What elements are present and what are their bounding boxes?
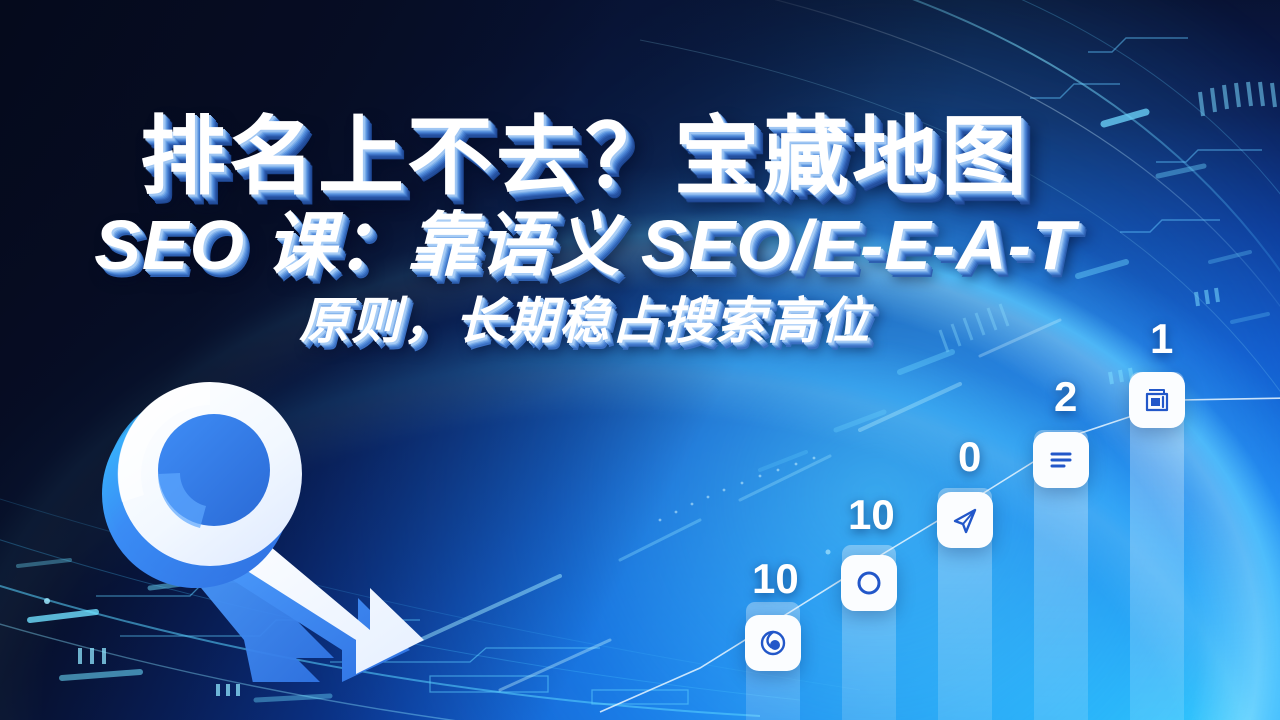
poster-canvas: 排名上不去？宝藏地图 SEO 课：靠语义 SEO/E-E-A-T 原则，长期稳占… [0,0,1280,720]
title-block: 排名上不去？宝藏地图 SEO 课：靠语义 SEO/E-E-A-T 原则，长期稳占… [0,112,1170,349]
list-icon[interactable] [1033,432,1089,488]
subtitle-primary: SEO 课：靠语义 SEO/E-E-A-T [0,207,1170,284]
chart-value-label: 10 [752,558,799,600]
chart-value-label: 2 [1054,376,1077,418]
chart-value-label: 0 [958,436,981,478]
bar-chart: 10 10 0 2 1 [720,300,1280,720]
ring-icon[interactable] [841,555,897,611]
document-edit-icon[interactable] [1129,372,1185,428]
page-title: 排名上不去？宝藏地图 [0,112,1170,203]
send-icon[interactable] [937,492,993,548]
chart-value-label: 10 [848,494,895,536]
globe-icon[interactable] [745,615,801,671]
subtitle-secondary: 原则，长期稳占搜索高位 [0,294,1170,349]
magnifier-down-arrow-icon [58,382,438,682]
